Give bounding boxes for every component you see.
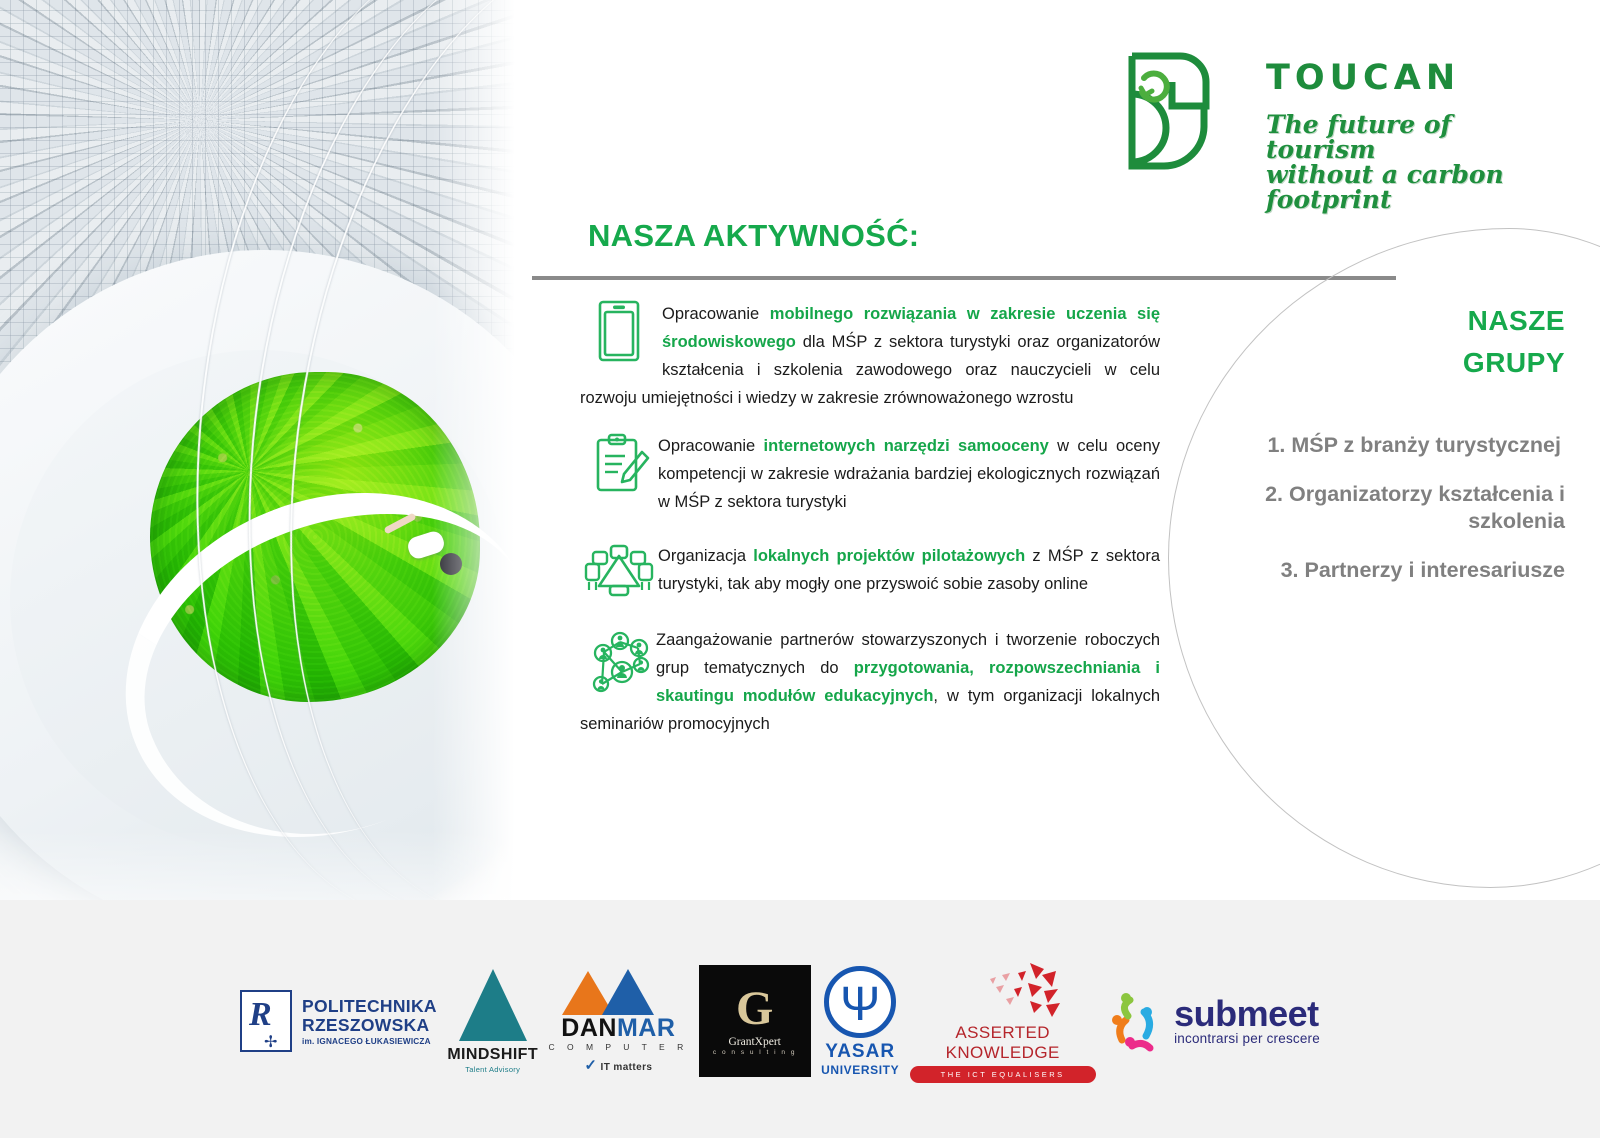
target-groups-panel: NASZE GRUPY 1. MŚP z branży turystycznej… bbox=[1185, 300, 1565, 606]
groups-title-line-1: NASZE bbox=[1185, 300, 1565, 342]
groups-list: 1. MŚP z branży turystycznej 2. Organiza… bbox=[1185, 432, 1565, 584]
group-item: 1. MŚP z branży turystycznej bbox=[1185, 432, 1565, 459]
slide-root: TOUCAN The future of tourism without a c… bbox=[0, 0, 1600, 1138]
brand-tagline: The future of tourism without a carbon f… bbox=[1266, 112, 1546, 212]
partner-name: DANMAR bbox=[549, 1015, 689, 1041]
partner-name: YASAR bbox=[821, 1041, 899, 1063]
partner-slogan: THE ICT EQUALISERS bbox=[910, 1066, 1096, 1083]
partner-subtitle: c o n s u l t i n g bbox=[713, 1049, 797, 1056]
danmar-peaks-icon bbox=[558, 969, 678, 1015]
activity-text: Zaangażowanie partnerów stowarzyszonych … bbox=[580, 626, 1160, 738]
partners-footer: POLITECHNIKA RZESZOWSKA im. IGNACEGO ŁUK… bbox=[0, 900, 1600, 1138]
partner-subtitle: Talent Advisory bbox=[447, 1065, 538, 1074]
submeet-people-icon bbox=[1106, 990, 1168, 1052]
hero-photo bbox=[0, 0, 522, 900]
partner-name: ASSERTED KNOWLEDGE bbox=[910, 1023, 1096, 1063]
tagline-line-2: without a carbon footprint bbox=[1266, 162, 1546, 212]
asserted-knowledge-face-icon bbox=[910, 959, 1096, 1019]
activity-item: Zaangażowanie partnerów stowarzyszonych … bbox=[580, 626, 1160, 738]
partner-logo-danmar-computers: DANMAR C O M P U T E R ✓ IT matters bbox=[549, 969, 689, 1074]
people-network-icon bbox=[582, 626, 654, 698]
title-divider bbox=[532, 276, 1396, 280]
mindshift-triangle-icon bbox=[459, 969, 527, 1041]
partner-logo-yasar-university: YASAR UNIVERSITY bbox=[821, 966, 899, 1077]
partner-logo-asserted-knowledge: ASSERTED KNOWLEDGE THE ICT EQUALISERS bbox=[910, 959, 1096, 1083]
activity-item: Organizacja lokalnych projektów pilotażo… bbox=[580, 542, 1160, 598]
partner-logo-politechnika-rzeszowska: POLITECHNIKA RZESZOWSKA im. IGNACEGO ŁUK… bbox=[240, 990, 437, 1052]
activity-item: Opracowanie mobilnego rozwiązania w zakr… bbox=[580, 300, 1160, 412]
partner-logo-mindshift: MINDSHIFT Talent Advisory bbox=[447, 969, 538, 1074]
photo-bottom-fade bbox=[0, 830, 522, 900]
partner-logo-submeet: submeet incontrarsi per crescere bbox=[1106, 990, 1320, 1052]
clipboard-pencil-icon bbox=[594, 432, 656, 494]
partner-name: MINDSHIFT bbox=[447, 1046, 538, 1064]
activity-text: Opracowanie internetowych narzędzi samoo… bbox=[580, 432, 1160, 516]
toucan-bird-icon bbox=[1118, 48, 1238, 174]
partner-subtitle: im. IGNACEGO ŁUKASIEWICZA bbox=[302, 1037, 437, 1046]
partner-subtitle: C O M P U T E R bbox=[549, 1042, 689, 1052]
mobile-phone-icon bbox=[598, 300, 660, 362]
brand-name: TOUCAN bbox=[1266, 58, 1460, 98]
group-item: 3. Partnerzy i interesariusze bbox=[1185, 557, 1565, 584]
yasar-emblem-icon bbox=[824, 966, 896, 1038]
toucan-logo: TOUCAN The future of tourism without a c… bbox=[1118, 40, 1548, 175]
grantxpert-g-icon: G bbox=[736, 986, 773, 1032]
partner-slogan: ✓ IT matters bbox=[549, 1056, 689, 1074]
partner-name: submeet bbox=[1174, 997, 1320, 1031]
activity-text: Opracowanie mobilnego rozwiązania w zakr… bbox=[580, 300, 1160, 412]
partner-subtitle: incontrarsi per crescere bbox=[1174, 1031, 1320, 1046]
activity-item: Opracowanie internetowych narzędzi samoo… bbox=[580, 432, 1160, 516]
partner-logo-grantxpert: G GrantXpert c o n s u l t i n g bbox=[699, 965, 811, 1077]
group-item: 2. Organizatorzy kształcenia i szkolenia bbox=[1185, 481, 1565, 535]
partner-logos: POLITECHNIKA RZESZOWSKA im. IGNACEGO ŁUK… bbox=[240, 936, 1320, 1106]
photo-right-fade bbox=[432, 0, 522, 900]
politechnika-mark-icon bbox=[240, 990, 292, 1052]
partner-name-line-1: POLITECHNIKA bbox=[302, 997, 437, 1016]
activities-list: Opracowanie mobilnego rozwiązania w zakr… bbox=[580, 300, 1160, 752]
recycle-icon bbox=[1141, 74, 1167, 100]
partner-name-line-2: RZESZOWSKA bbox=[302, 1016, 437, 1035]
activity-text: Organizacja lokalnych projektów pilotażo… bbox=[580, 542, 1160, 598]
tagline-line-1: The future of tourism bbox=[1266, 112, 1546, 162]
partner-name: GrantXpert bbox=[729, 1036, 781, 1048]
conference-table-icon bbox=[582, 542, 656, 602]
partner-subtitle: UNIVERSITY bbox=[821, 1063, 899, 1077]
page-title: NASZA AKTYWNOŚĆ: bbox=[588, 218, 919, 254]
groups-title-line-2: GRUPY bbox=[1185, 342, 1565, 384]
